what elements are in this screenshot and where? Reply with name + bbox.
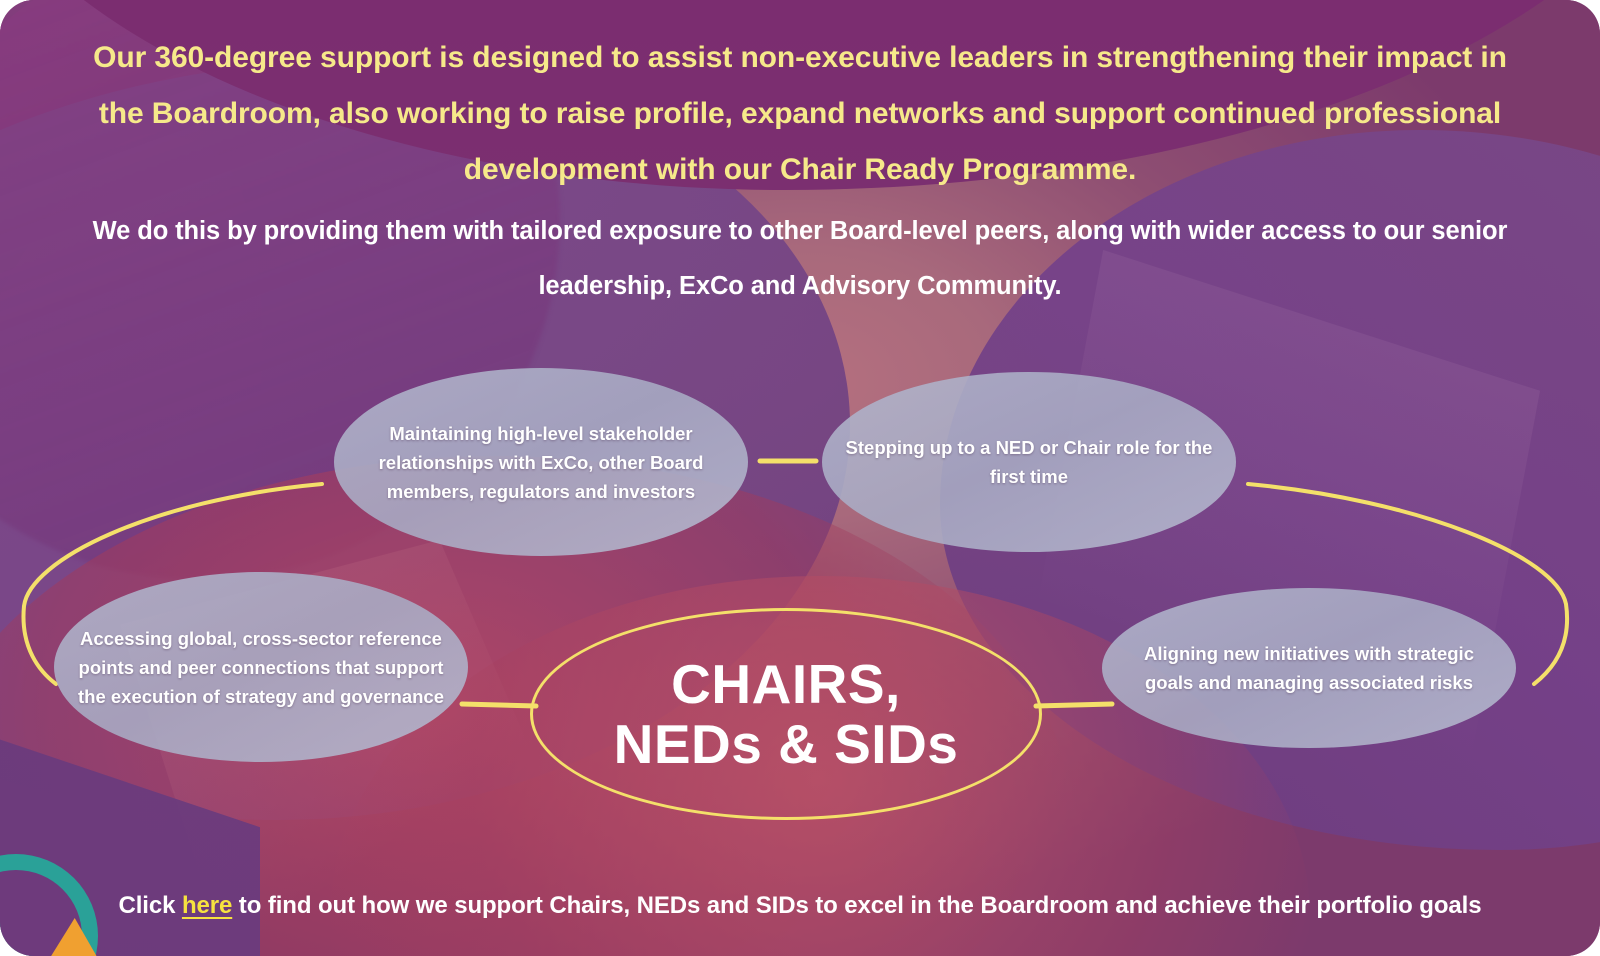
diagram-node-center[interactable]: CHAIRS, NEDs & SIDs [530,608,1042,820]
diagram-node-bottom-right-label: Aligning new initiatives with strategic … [1102,639,1516,697]
diagram-node-top-left[interactable]: Maintaining high-level stakeholder relat… [334,368,748,556]
footer-caption: Click here to find out how we support Ch… [0,892,1600,920]
connector-center-right [1036,704,1112,706]
diagram-node-bottom-left-label: Accessing global, cross-sector reference… [54,624,468,711]
diagram-node-center-label: CHAIRS, NEDs & SIDs [614,654,959,774]
footer-text-after: to find out how we support Chairs, NEDs … [232,892,1481,919]
diagram-node-top-right-label: Stepping up to a NED or Chair role for t… [822,433,1236,491]
slide-canvas: Our 360-degree support is designed to as… [0,0,1600,956]
footer-here-link[interactable]: here [182,892,232,919]
lede-paragraph: Our 360-degree support is designed to as… [70,30,1530,198]
intro-copy: Our 360-degree support is designed to as… [0,30,1600,314]
footer-text-before: Click [119,892,182,919]
connector-center-left [462,704,536,706]
diagram-node-top-right[interactable]: Stepping up to a NED or Chair role for t… [822,372,1236,552]
diagram-node-bottom-left[interactable]: Accessing global, cross-sector reference… [54,572,468,762]
diagram-node-top-left-label: Maintaining high-level stakeholder relat… [334,419,748,506]
diagram-node-bottom-right[interactable]: Aligning new initiatives with strategic … [1102,588,1516,748]
sub-paragraph: We do this by providing them with tailor… [70,204,1530,314]
